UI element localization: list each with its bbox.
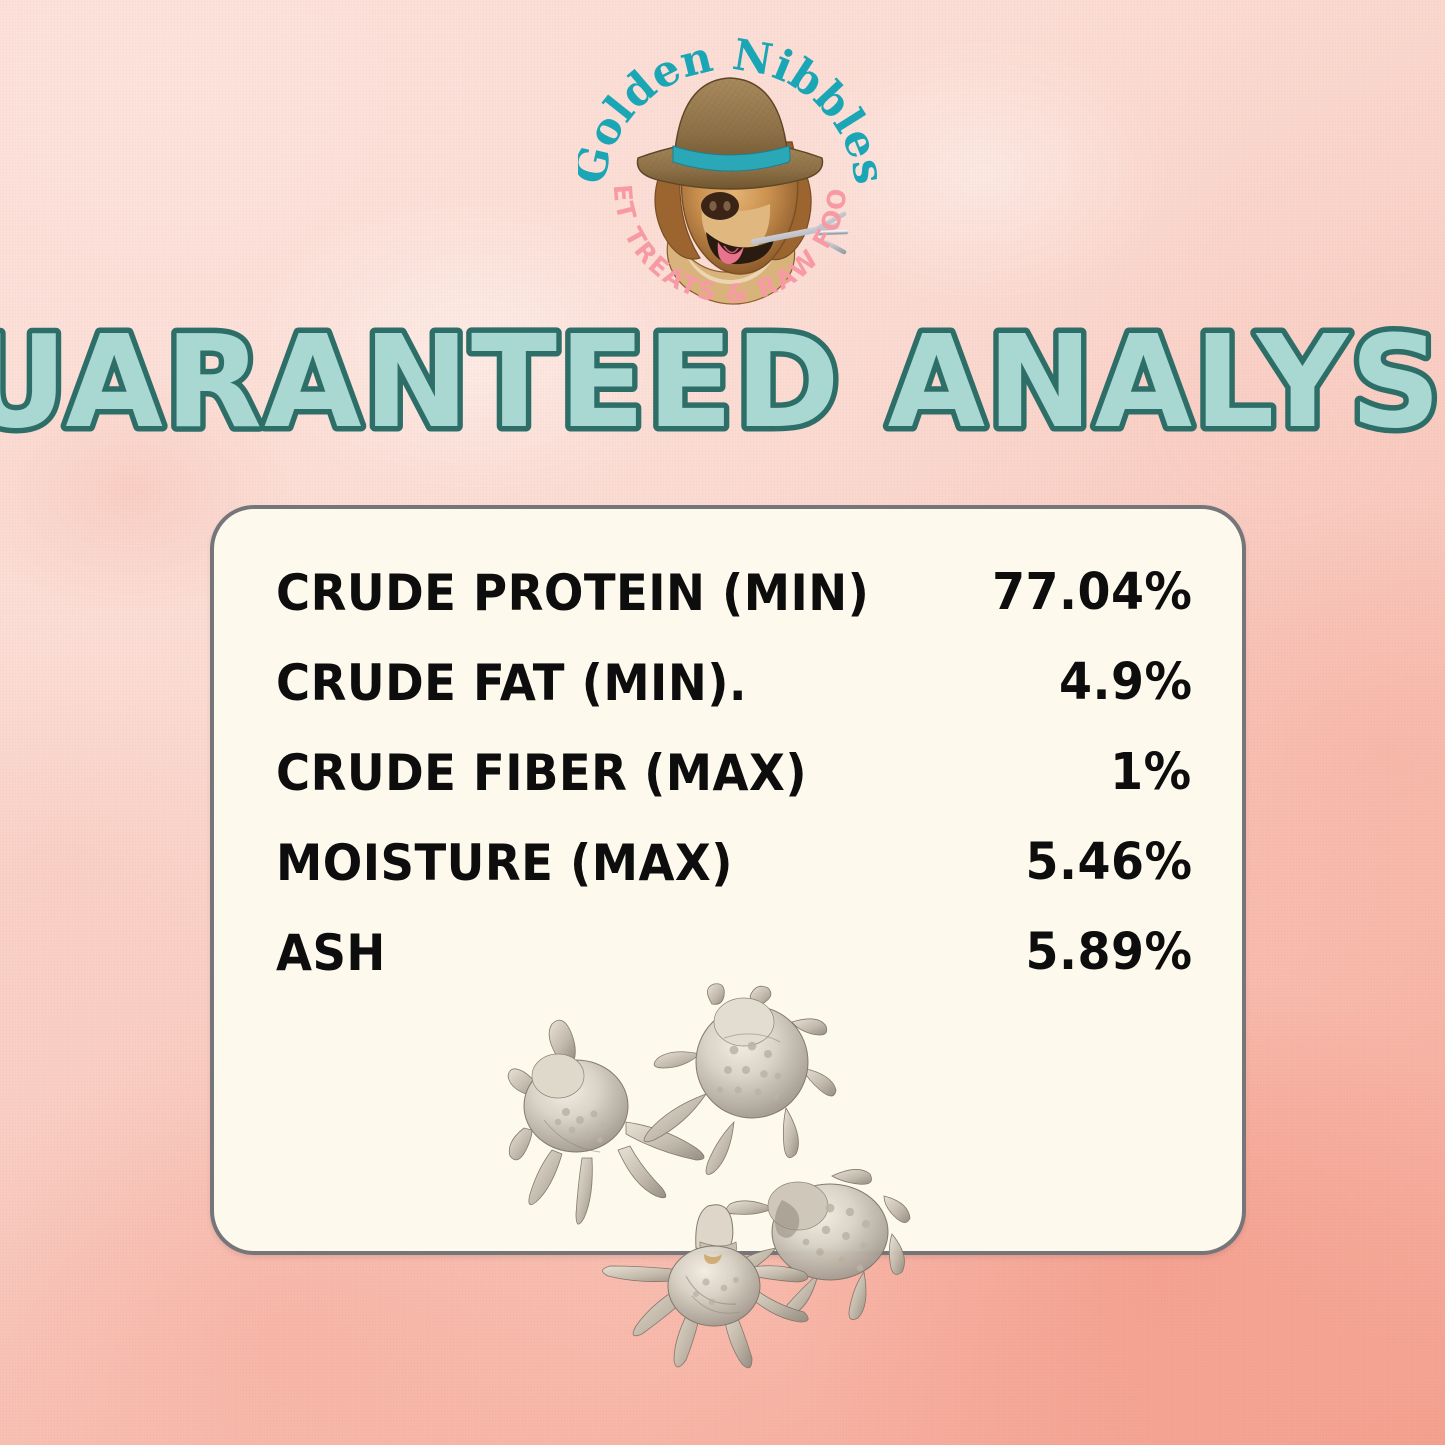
nutrient-value: 4.9% [1059, 654, 1192, 712]
guaranteed-analysis-card: CRUDE PROTEIN (MIN) 77.04% CRUDE FAT (MI… [210, 505, 1246, 1255]
page-title-text: GUARANTEED ANALYSIS [0, 326, 1445, 456]
nutrient-label: ASH [276, 924, 386, 982]
table-row: ASH 5.89% [276, 924, 1192, 1014]
table-row: CRUDE PROTEIN (MIN) 77.04% [276, 564, 1192, 654]
product-label-page: Golden Nibbles PET TREATS & RAW FOOD GUA… [0, 0, 1445, 1445]
nutrient-value: 5.46% [1025, 834, 1192, 892]
page-title: GUARANTEED ANALYSIS [0, 326, 1445, 456]
analysis-rows: CRUDE PROTEIN (MIN) 77.04% CRUDE FAT (MI… [276, 564, 1192, 1014]
table-row: MOISTURE (MAX) 5.46% [276, 834, 1192, 924]
nutrient-value: 77.04% [992, 564, 1192, 622]
nutrient-label: CRUDE FIBER (MAX) [276, 744, 807, 802]
brand-logo: Golden Nibbles PET TREATS & RAW FOOD [578, 36, 882, 316]
table-row: CRUDE FIBER (MAX) 1% [276, 744, 1192, 834]
nutrient-label: CRUDE FAT (MIN). [276, 654, 747, 712]
nutrient-label: CRUDE PROTEIN (MIN) [276, 564, 869, 622]
nutrient-label: MOISTURE (MAX) [276, 834, 733, 892]
table-row: CRUDE FAT (MIN). 4.9% [276, 654, 1192, 744]
nutrient-value: 1% [1111, 744, 1192, 802]
nutrient-value: 5.89% [1025, 924, 1192, 982]
